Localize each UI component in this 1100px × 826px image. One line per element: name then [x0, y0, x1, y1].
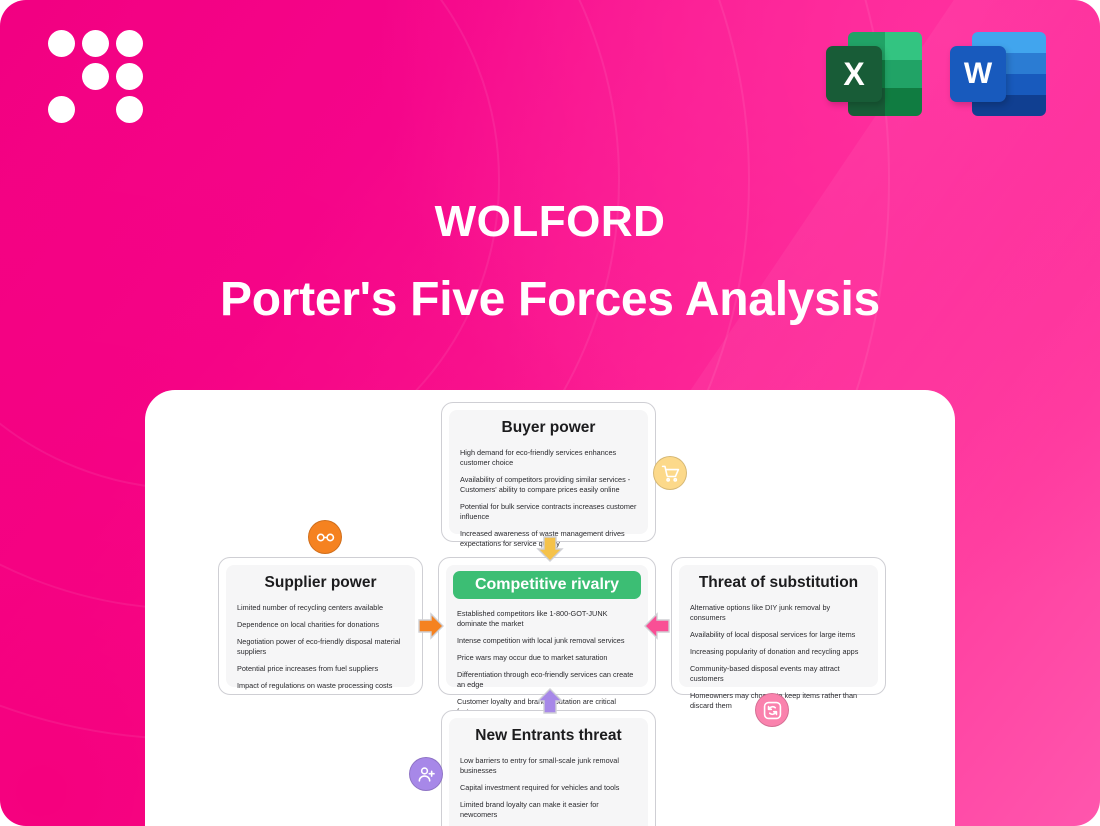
- office-icons-group: X W: [826, 26, 1046, 122]
- box-supplier-power[interactable]: Supplier power Limited number of recycli…: [218, 557, 423, 695]
- box-buyer-power[interactable]: Buyer power High demand for eco-friendly…: [441, 402, 656, 542]
- list-item: Availability of competitors providing si…: [460, 475, 637, 495]
- list-item: Negotiation power of eco-friendly dispos…: [237, 637, 404, 657]
- list-item: High demand for eco-friendly services en…: [460, 448, 637, 468]
- arrow-down-buyer-to-rivalry: [536, 536, 564, 562]
- box-new-entrants-threat-list: Low barriers to entry for small-scale ju…: [460, 756, 637, 826]
- box-new-entrants-threat[interactable]: New Entrants threat Low barriers to entr…: [441, 710, 656, 826]
- excel-icon[interactable]: X: [826, 26, 922, 122]
- list-item: Intense competition with local junk remo…: [457, 636, 637, 646]
- excel-letter: X: [826, 46, 882, 102]
- list-item: Low barriers to entry for small-scale ju…: [460, 756, 637, 776]
- logo-dot: [82, 63, 109, 90]
- box-competitive-rivalry-title: Competitive rivalry: [453, 571, 641, 599]
- list-item: Limited brand loyalty can make it easier…: [460, 800, 637, 820]
- add-user-icon: [409, 757, 443, 791]
- box-threat-of-substitution[interactable]: Threat of substitution Alternative optio…: [671, 557, 886, 695]
- logo-dot: [82, 30, 109, 57]
- box-supplier-power-inner: Supplier power Limited number of recycli…: [226, 565, 415, 687]
- diagram-card: Buyer power High demand for eco-friendly…: [145, 390, 955, 826]
- box-threat-of-substitution-title: Threat of substitution: [690, 574, 867, 592]
- box-supplier-power-title: Supplier power: [237, 574, 404, 592]
- list-item: Alternative options like DIY junk remova…: [690, 603, 867, 623]
- arrow-up-entrants-to-rivalry: [536, 688, 564, 714]
- arrow-right-supplier-to-rivalry: [418, 612, 444, 640]
- list-item: Dependence on local charities for donati…: [237, 620, 404, 630]
- box-new-entrants-threat-inner: New Entrants threat Low barriers to entr…: [449, 718, 648, 826]
- logo-dot: [48, 96, 75, 123]
- box-buyer-power-inner: Buyer power High demand for eco-friendly…: [449, 410, 648, 534]
- box-competitive-rivalry[interactable]: Competitive rivalry Established competit…: [438, 557, 656, 695]
- list-item: Community-based disposal events may attr…: [690, 664, 867, 684]
- word-icon[interactable]: W: [950, 26, 1046, 122]
- nine-dot-grid-logo: [48, 30, 144, 122]
- list-item: Potential for bulk service contracts inc…: [460, 502, 637, 522]
- list-item: Price wars may occur due to market satur…: [457, 653, 637, 663]
- list-item: Capital investment required for vehicles…: [460, 783, 637, 793]
- slide-page: X W WOLFORD Porter's Five Forces Analysi…: [0, 0, 1100, 826]
- handshake-link-icon: [308, 520, 342, 554]
- company-title: WOLFORD: [0, 198, 1100, 246]
- logo-dot: [116, 96, 143, 123]
- logo-dot: [116, 30, 143, 57]
- list-item: Increasing popularity of donation and re…: [690, 647, 867, 657]
- page-title: Porter's Five Forces Analysis: [0, 272, 1100, 327]
- box-buyer-power-title: Buyer power: [460, 419, 637, 437]
- list-item: Availability of local disposal services …: [690, 630, 867, 640]
- arrow-left-substitution-to-rivalry: [644, 612, 670, 640]
- title-block: WOLFORD Porter's Five Forces Analysis: [0, 198, 1100, 327]
- box-new-entrants-threat-title: New Entrants threat: [460, 727, 637, 745]
- box-threat-of-substitution-inner: Threat of substitution Alternative optio…: [679, 565, 878, 687]
- refresh-sync-icon: [755, 693, 789, 727]
- shopping-cart-icon: [653, 456, 687, 490]
- list-item: Impact of regulations on waste processin…: [237, 681, 404, 691]
- list-item: Potential price increases from fuel supp…: [237, 664, 404, 674]
- box-buyer-power-list: High demand for eco-friendly services en…: [460, 448, 637, 550]
- logo-dot: [48, 30, 75, 57]
- word-letter: W: [950, 46, 1006, 102]
- list-item: Limited number of recycling centers avai…: [237, 603, 404, 613]
- box-supplier-power-list: Limited number of recycling centers avai…: [237, 603, 404, 691]
- logo-dot: [116, 63, 143, 90]
- list-item: Established competitors like 1-800-GOT-J…: [457, 609, 637, 629]
- porters-five-forces-diagram: Buyer power High demand for eco-friendly…: [145, 390, 955, 826]
- box-competitive-rivalry-inner: Competitive rivalry Established competit…: [446, 565, 648, 687]
